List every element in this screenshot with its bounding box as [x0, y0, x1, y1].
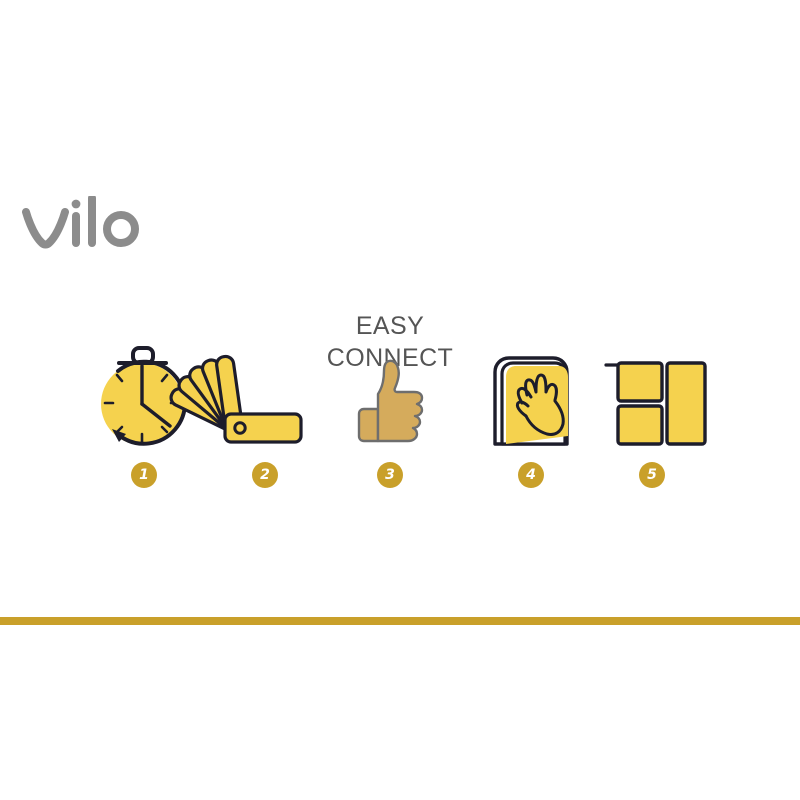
brand-logo [22, 196, 192, 252]
hand-wiping-panel-icon [467, 300, 595, 450]
step-item-4: 4 [467, 300, 595, 510]
panel-layout-icon [588, 300, 716, 450]
step-badge-4: 4 [518, 462, 544, 488]
step-badge-3: 3 [377, 462, 403, 488]
bottom-divider-bar [0, 617, 800, 625]
step-badge-2: 2 [252, 462, 278, 488]
step-badge-1: 1 [131, 462, 157, 488]
step-item-3: EASY CONNECT 3 [326, 300, 454, 510]
steps-row: 1 [80, 300, 720, 510]
step-badge-5: 5 [639, 462, 665, 488]
thumbs-up-icon [326, 300, 454, 450]
step-item-5: 5 [588, 300, 716, 510]
